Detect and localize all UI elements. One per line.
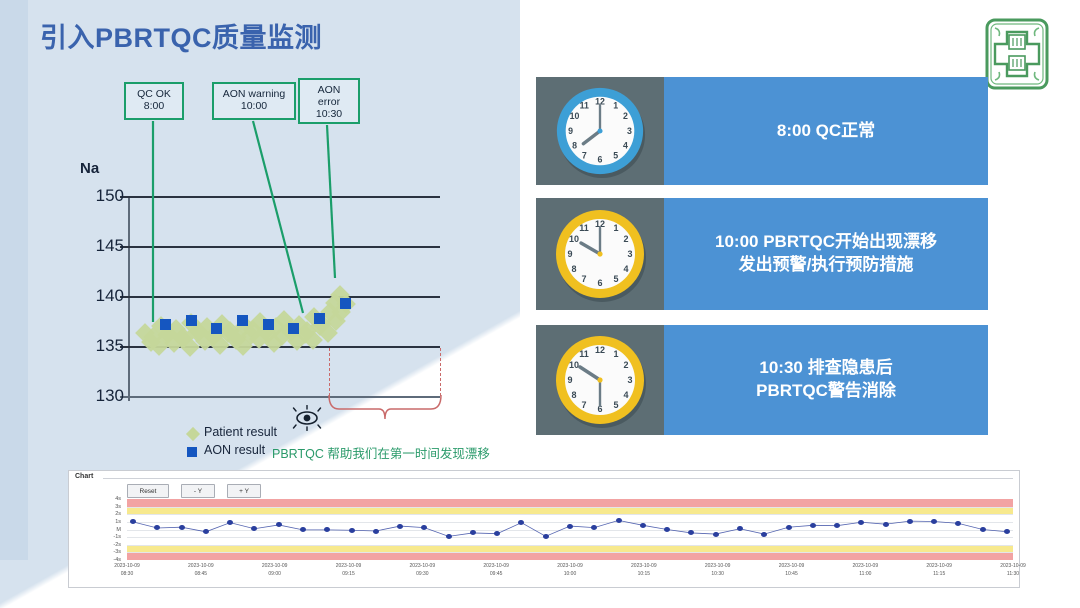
- svg-text:1: 1: [613, 100, 618, 110]
- widget-y-tick: 4s: [99, 496, 121, 502]
- clock-10-00-icon: 1212 345 678 91011: [550, 204, 650, 304]
- svg-text:9: 9: [567, 375, 572, 385]
- widget-data-point: [980, 527, 986, 532]
- svg-text:6: 6: [598, 154, 603, 164]
- widget-data-point: [397, 524, 403, 529]
- na-ytick-150: 150: [84, 186, 124, 206]
- aon-result-marker: [314, 313, 325, 324]
- widget-y-tick: -3s: [99, 549, 121, 555]
- svg-text:12: 12: [595, 345, 605, 355]
- na-axis-label: Na: [80, 160, 99, 177]
- svg-text:5: 5: [613, 150, 618, 160]
- clock-8-00-icon: 1212 345 678 91011: [551, 82, 649, 180]
- row-pbrtqc-cleared-line2: PBRTQC警告消除: [756, 380, 896, 403]
- svg-text:11: 11: [580, 100, 589, 110]
- widget-x-tick: 2023-10-0909:45: [466, 563, 526, 578]
- clock-10-30-icon: 1212 345 678 91011: [550, 330, 650, 430]
- widget-data-point: [810, 523, 816, 528]
- widget-data-point: [907, 519, 913, 524]
- svg-text:4: 4: [623, 141, 628, 151]
- row-qc-normal-line1: 8:00 QC正常: [777, 121, 875, 140]
- aon-result-marker: [340, 298, 351, 309]
- widget-data-point: [179, 525, 185, 530]
- na-ytick-140: 140: [84, 286, 124, 306]
- row-qc-normal-text: 8:00 QC正常: [664, 77, 988, 185]
- widget-x-tick: 2023-10-0909:30: [392, 563, 452, 578]
- na-y-axis: [128, 196, 130, 401]
- widget-y-tick: -2s: [99, 542, 121, 548]
- widget-y-tick: M: [99, 527, 121, 533]
- y-decrease-button[interactable]: - Y: [181, 484, 215, 498]
- aon-result-marker: [186, 315, 197, 326]
- widget-data-point: [761, 532, 767, 537]
- svg-text:10: 10: [569, 360, 579, 370]
- svg-text:5: 5: [613, 400, 618, 410]
- widget-data-point: [713, 532, 719, 537]
- svg-text:7: 7: [582, 150, 587, 160]
- na-gridline-150: [120, 196, 440, 198]
- svg-text:6: 6: [597, 278, 602, 288]
- widget-series-line: [127, 499, 1013, 560]
- pbrtqc-chart-widget: Chart Reset - Y + Y 4s3s2s1sM-1s-2s-3s-4…: [68, 470, 1020, 588]
- pbrtqc-annotation: PBRTQC 帮助我们在第一时间发现漂移: [272, 443, 490, 462]
- row-pbrtqc-drift: 1212 345 678 91011 10:00 PBRTQC开始出现漂移 发出…: [536, 198, 988, 310]
- widget-y-tick: -1s: [99, 534, 121, 540]
- widget-data-point: [543, 534, 549, 539]
- na-gridline-140: [120, 296, 440, 298]
- widget-plot-area: [127, 499, 1013, 560]
- widget-x-tick: 2023-10-0910:45: [762, 563, 822, 578]
- svg-text:1: 1: [613, 223, 618, 233]
- aon-result-marker: [211, 323, 222, 334]
- widget-x-tick: 2023-10-0910:00: [540, 563, 600, 578]
- widget-data-point: [446, 534, 452, 539]
- svg-text:2: 2: [623, 234, 628, 244]
- na-scatter-chart: Na 150 145 140 135 130 Patient: [0, 0, 540, 470]
- svg-text:8: 8: [572, 141, 577, 151]
- widget-data-point: [883, 522, 889, 527]
- svg-text:7: 7: [581, 274, 586, 284]
- widget-data-point: [640, 523, 646, 528]
- svg-text:11: 11: [579, 349, 589, 359]
- legend-aon-marker: [187, 447, 197, 457]
- drift-region-left-dash: [329, 348, 330, 396]
- na-ytick-145: 145: [84, 236, 124, 256]
- svg-text:2: 2: [623, 111, 628, 121]
- widget-y-tick: 1s: [99, 519, 121, 525]
- widget-data-point: [786, 525, 792, 530]
- svg-text:1: 1: [613, 349, 618, 359]
- widget-x-tick: 2023-10-0911:30: [983, 563, 1043, 578]
- aon-result-marker: [263, 319, 274, 330]
- row-pbrtqc-drift-line2: 发出预警/执行预防措施: [715, 254, 937, 277]
- widget-x-tick: 2023-10-0909:15: [319, 563, 379, 578]
- svg-text:5: 5: [613, 274, 618, 284]
- legend-patient-label: Patient result: [204, 425, 277, 439]
- widget-y-tick: 3s: [99, 504, 121, 510]
- widget-x-tick: 2023-10-0909:00: [245, 563, 305, 578]
- reset-button[interactable]: Reset: [127, 484, 169, 498]
- svg-text:3: 3: [627, 126, 632, 136]
- svg-text:9: 9: [568, 126, 573, 136]
- widget-x-tick: 2023-10-0911:15: [909, 563, 969, 578]
- svg-text:9: 9: [567, 249, 572, 259]
- row-pbrtqc-cleared-text: 10:30 排查隐患后 PBRTQC警告消除: [664, 325, 988, 435]
- svg-text:4: 4: [623, 264, 628, 274]
- svg-text:2: 2: [623, 360, 628, 370]
- widget-y-tick: 2s: [99, 511, 121, 517]
- y-increase-button[interactable]: + Y: [227, 484, 261, 498]
- row-pbrtqc-drift-line1: 10:00 PBRTQC开始出现漂移: [715, 231, 937, 254]
- clock-10-30-cell: 1212 345 678 91011: [536, 325, 664, 435]
- clock-8-00-cell: 1212 345 678 91011: [536, 77, 664, 185]
- na-ytick-130: 130: [84, 386, 124, 406]
- drift-region-bracket: [320, 392, 450, 440]
- svg-text:10: 10: [569, 234, 579, 244]
- svg-text:3: 3: [627, 375, 632, 385]
- svg-text:10: 10: [570, 111, 580, 121]
- aon-result-marker: [288, 323, 299, 334]
- widget-data-point: [373, 529, 379, 534]
- widget-x-tick: 2023-10-0908:45: [171, 563, 231, 578]
- row-qc-normal: 1212 345 678 91011 8:00 QC正常: [536, 77, 988, 185]
- row-pbrtqc-cleared-line1: 10:30 排查隐患后: [756, 357, 896, 380]
- na-ytick-135: 135: [84, 336, 124, 356]
- svg-text:11: 11: [579, 223, 589, 233]
- slide-root: 引入PBRTQC质量监测 QC OK 8:00 AON warning 10:0…: [0, 0, 1080, 608]
- green-seal-logo: [985, 18, 1049, 90]
- aon-result-marker: [237, 315, 248, 326]
- svg-text:7: 7: [581, 400, 586, 410]
- legend-aon-label: AON result: [204, 443, 265, 457]
- eye-icon: [292, 405, 322, 431]
- svg-text:8: 8: [571, 264, 576, 274]
- widget-title: Chart: [75, 473, 93, 480]
- widget-data-point: [567, 524, 573, 529]
- widget-x-tick: 2023-10-0910:30: [688, 563, 748, 578]
- legend-patient-marker: [186, 427, 200, 441]
- widget-data-point: [616, 518, 622, 523]
- widget-x-tick: 2023-10-0908:30: [97, 563, 157, 578]
- aon-result-marker: [160, 319, 171, 330]
- na-gridline-145: [120, 246, 440, 248]
- row-pbrtqc-cleared: 1212 345 678 91011 10:30 排查隐患后 PBRTQC警告消…: [536, 325, 988, 435]
- svg-text:3: 3: [627, 249, 632, 259]
- widget-x-tick: 2023-10-0910:15: [614, 563, 674, 578]
- row-pbrtqc-drift-text: 10:00 PBRTQC开始出现漂移 发出预警/执行预防措施: [664, 198, 988, 310]
- clock-10-00-cell: 1212 345 678 91011: [536, 198, 664, 310]
- svg-text:8: 8: [571, 390, 576, 400]
- widget-title-rule: [103, 478, 1013, 479]
- widget-x-tick: 2023-10-0911:00: [835, 563, 895, 578]
- drift-region-right-dash: [440, 348, 441, 396]
- svg-text:4: 4: [623, 390, 628, 400]
- widget-data-point: [349, 528, 355, 533]
